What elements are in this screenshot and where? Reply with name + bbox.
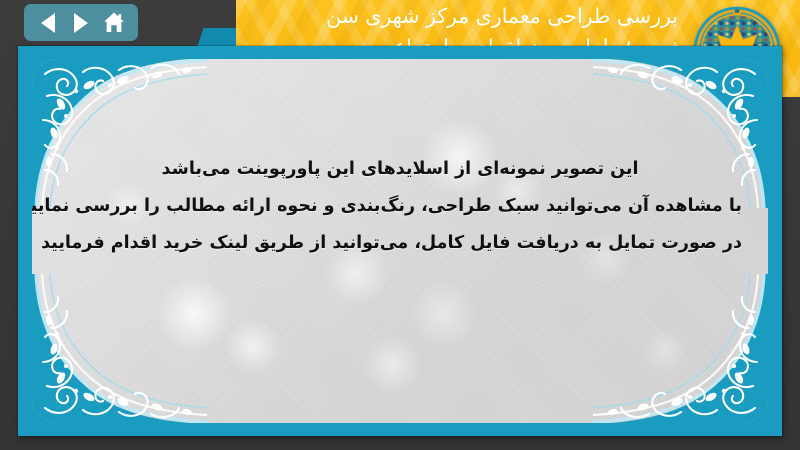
slide-body-text: این تصویر نمونه‌ای از اسلایدهای این پاور… [58, 151, 742, 262]
triangle-left-icon [41, 13, 55, 33]
next-slide-button[interactable] [68, 10, 94, 36]
body-line-3: در صورت تمایل به دریافت فایل کامل، می‌تو… [58, 225, 742, 262]
home-icon [102, 11, 126, 34]
previous-slide-button[interactable] [35, 10, 61, 36]
presentation-slide: بررسی طراحی معماری مرکز شهری سن ژرمن؛ طر… [0, 0, 800, 450]
body-line-1: این تصویر نمونه‌ای از اسلایدهای این پاور… [58, 151, 742, 188]
slide-navigation-bar [24, 4, 138, 41]
islimi-arabesque-corner [32, 274, 207, 423]
content-card-surface: این تصویر نمونه‌ای از اسلایدهای این پاور… [32, 59, 768, 423]
content-card-frame: این تصویر نمونه‌ای از اسلایدهای این پاور… [18, 46, 782, 436]
home-button[interactable] [101, 10, 127, 36]
islimi-arabesque-corner [593, 274, 768, 423]
triangle-right-icon [74, 13, 88, 33]
body-line-2: با مشاهده آن می‌توانید سبک طراحی، رنگ‌بن… [58, 188, 742, 225]
title-line-1: بررسی طراحی معماری مرکز شهری سن [236, 1, 678, 32]
